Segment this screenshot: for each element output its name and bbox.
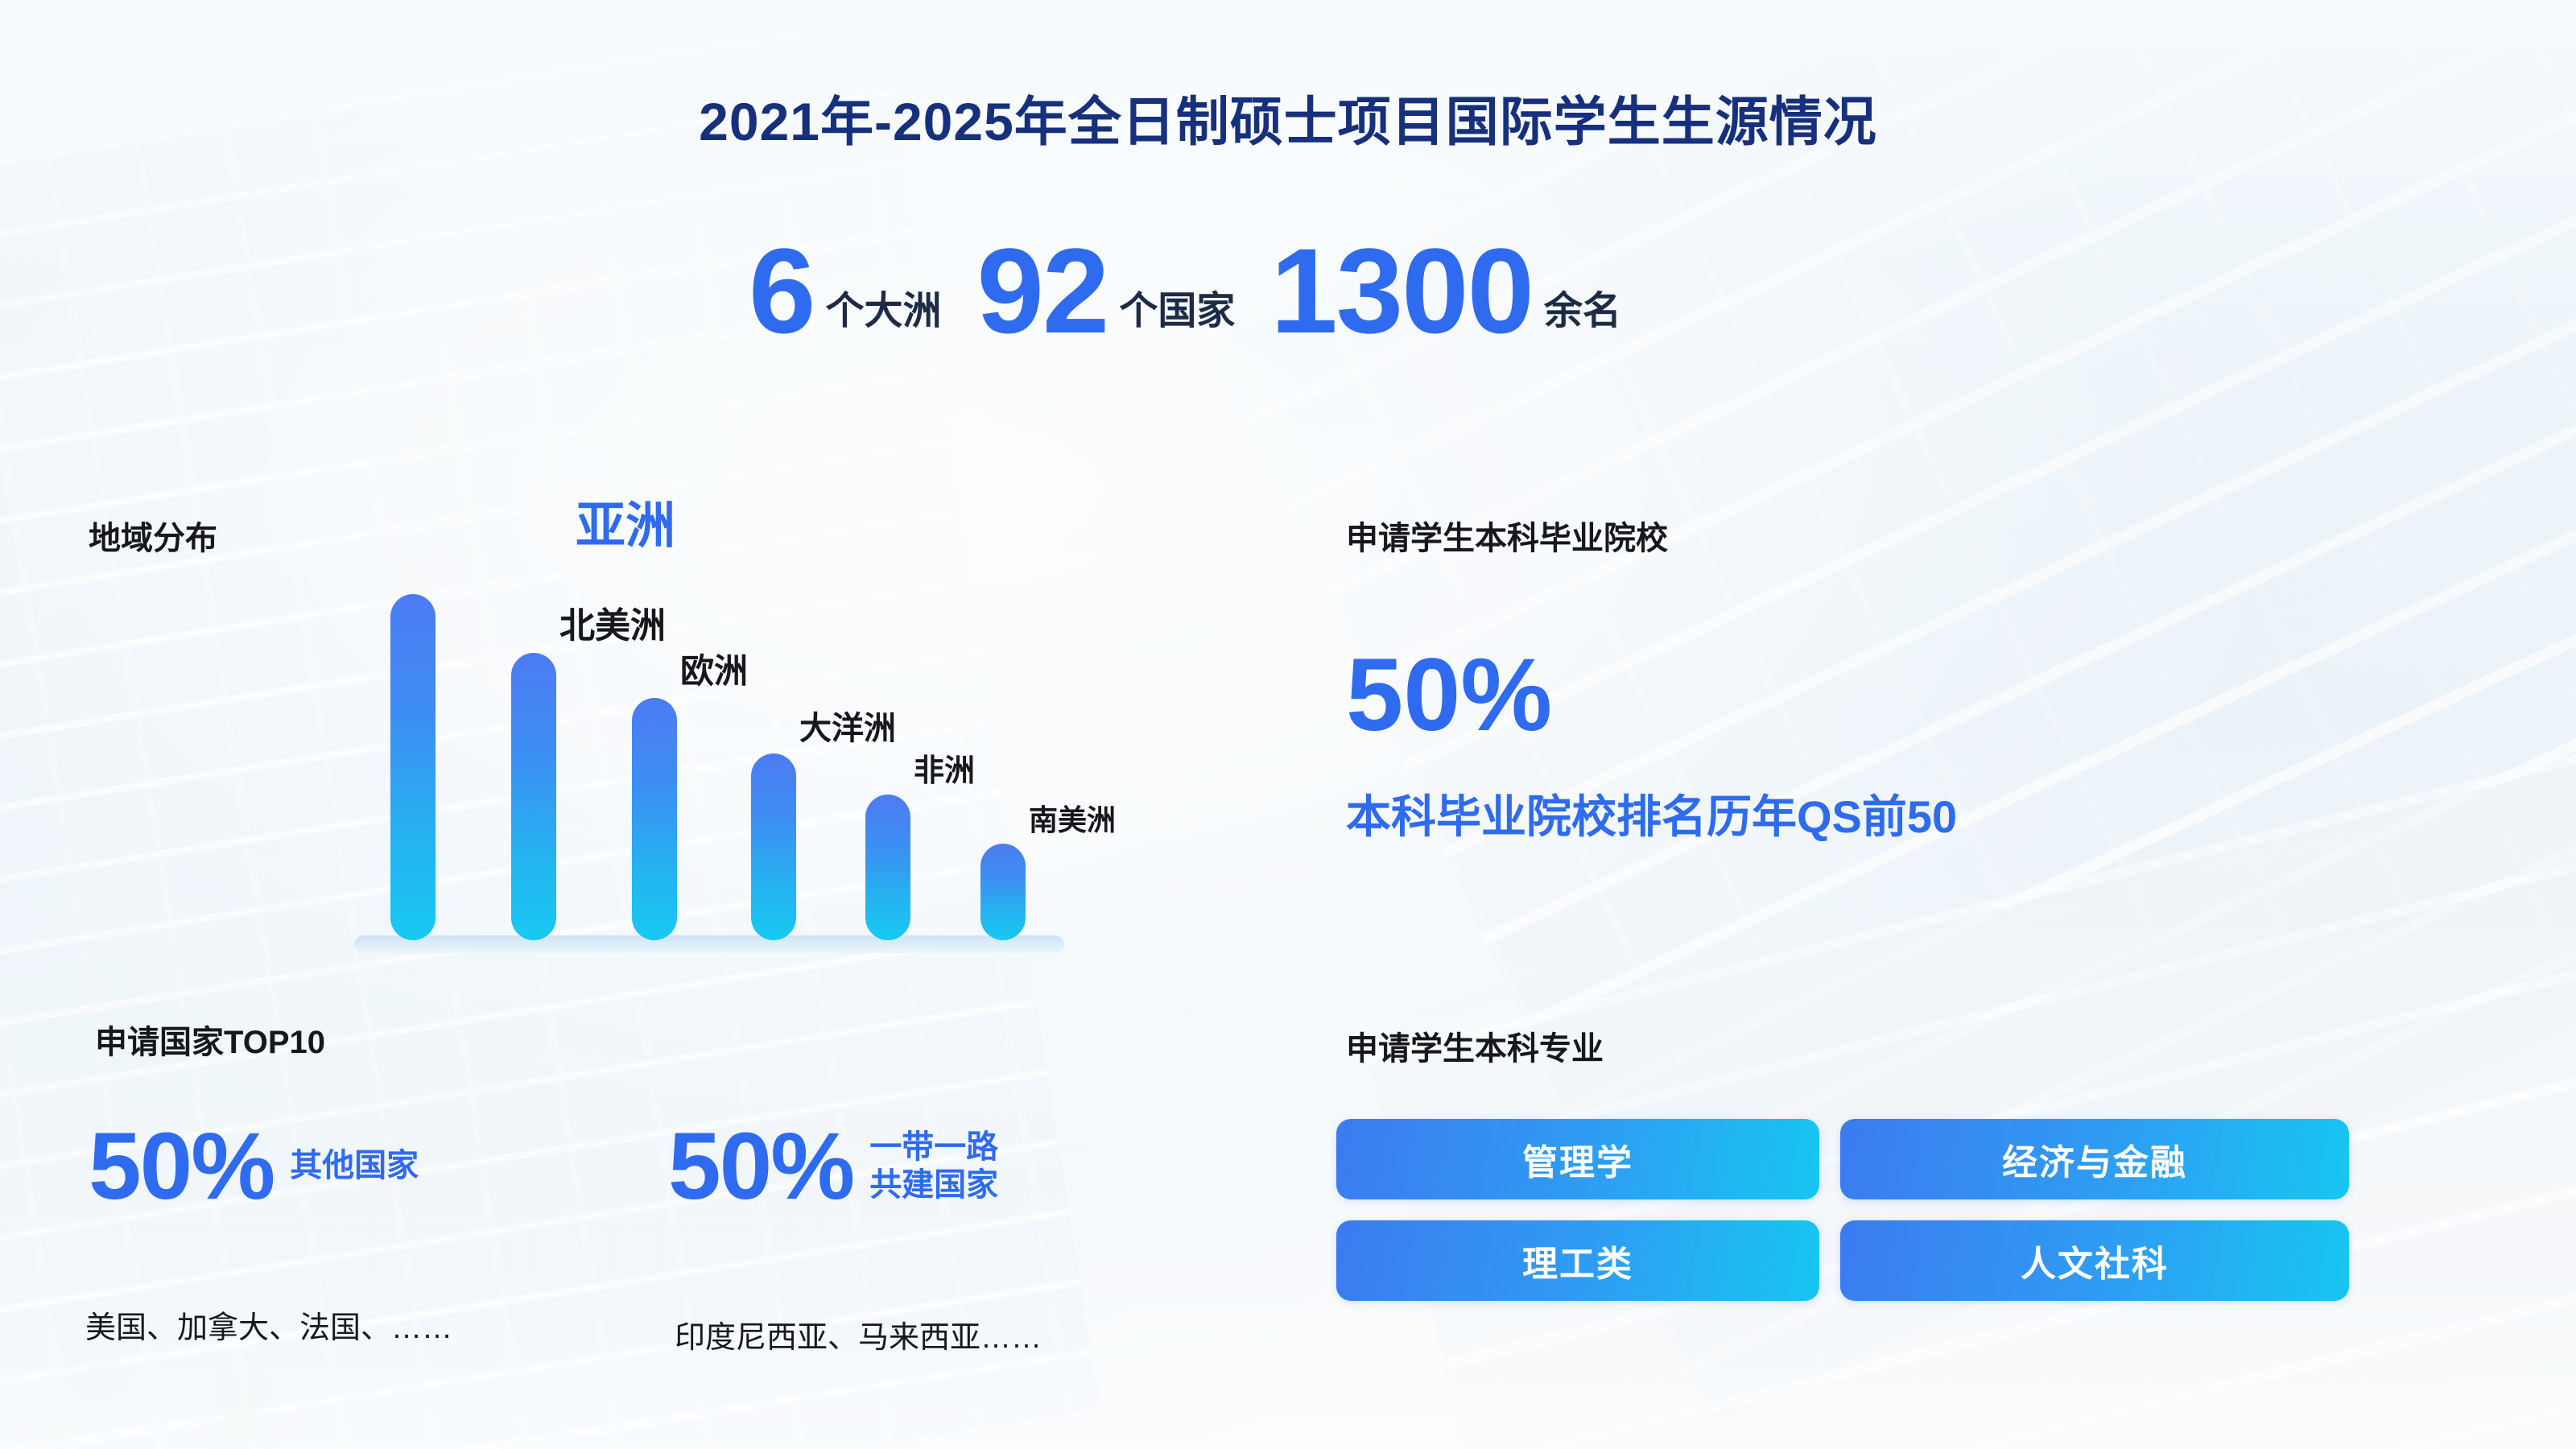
bar-label-大洋洲: 大洋洲 [799,702,896,749]
stat-continents-unit: 个大洲 [825,279,941,335]
stat-students: 1300 余名 [1270,235,1621,346]
top10-bri-tag: 一带一路 共建国家 [869,1129,998,1204]
bar-label-欧洲: 欧洲 [680,644,748,693]
top10-other-countries: 美国、加拿大、法国、…… [85,1302,452,1347]
major-card-2[interactable]: 经济与金融 [1840,1119,2349,1199]
section-heading-school: 申请学生本科毕业院校 [1346,512,1668,559]
stat-countries-number: 92 [976,235,1108,346]
stat-countries-unit: 个国家 [1119,279,1235,335]
top10-bri-tag-line1: 一带一路 [869,1129,998,1165]
bar-大洋洲 [751,753,796,940]
bar-label-highlight: 亚洲 [576,485,675,557]
top10-bri-tag-line2: 共建国家 [869,1167,998,1203]
major-card-4[interactable]: 人文社科 [1840,1220,2349,1301]
stat-students-number: 1300 [1270,235,1533,346]
top10-bri-percent: 50% [668,1119,853,1214]
stat-continents: 6 个大洲 [749,235,941,346]
major-card-grid: 管理学经济与金融理工类人文社科 [1336,1119,2349,1301]
section-heading-major: 申请学生本科专业 [1346,1022,1604,1069]
section-heading-top10: 申请国家TOP10 [95,1016,325,1063]
infographic-slide: 2021年-2025年全日制硕士项目国际学生生源情况 6 个大洲 92 个国家 … [0,0,2576,1449]
major-card-1[interactable]: 管理学 [1336,1119,1819,1199]
page-title: 2021年-2025年全日制硕士项目国际学生生源情况 [0,79,2576,156]
bar-label-非洲: 非洲 [914,745,975,790]
top10-other-tag-line1: 其他国家 [290,1148,419,1183]
stat-students-unit: 余名 [1544,279,1621,335]
top10-group-bri: 50% 一带一路 共建国家 [668,1119,998,1214]
top10-other-tag: 其他国家 [290,1147,419,1185]
region-bar-chart: 亚洲 北美洲欧洲大洋洲非洲南美洲 [346,499,1151,966]
bar-北美洲 [511,653,556,940]
bar-亚洲 [390,594,436,940]
bar-南美洲 [980,844,1026,940]
section-heading-region: 地域分布 [89,512,217,559]
top10-other-percent: 50% [89,1119,274,1214]
key-stats-row: 6 个大洲 92 个国家 1300 余名 [749,235,1621,346]
stat-continents-number: 6 [749,235,814,346]
stat-countries: 92 个国家 [976,235,1235,346]
school-percent: 50% [1346,644,1552,747]
bar-欧洲 [632,698,677,940]
major-card-3[interactable]: 理工类 [1336,1220,1819,1301]
bar-label-北美洲: 北美洲 [559,597,666,648]
bar-label-南美洲: 南美洲 [1029,797,1116,839]
top10-bri-countries: 印度尼西亚、马来西亚…… [675,1312,1042,1356]
school-caption: 本科毕业院校排名历年QS前50 [1346,781,1957,846]
chart-baseline [354,935,1064,953]
top10-group-other: 50% 其他国家 [89,1119,419,1214]
bar-非洲 [865,795,910,940]
